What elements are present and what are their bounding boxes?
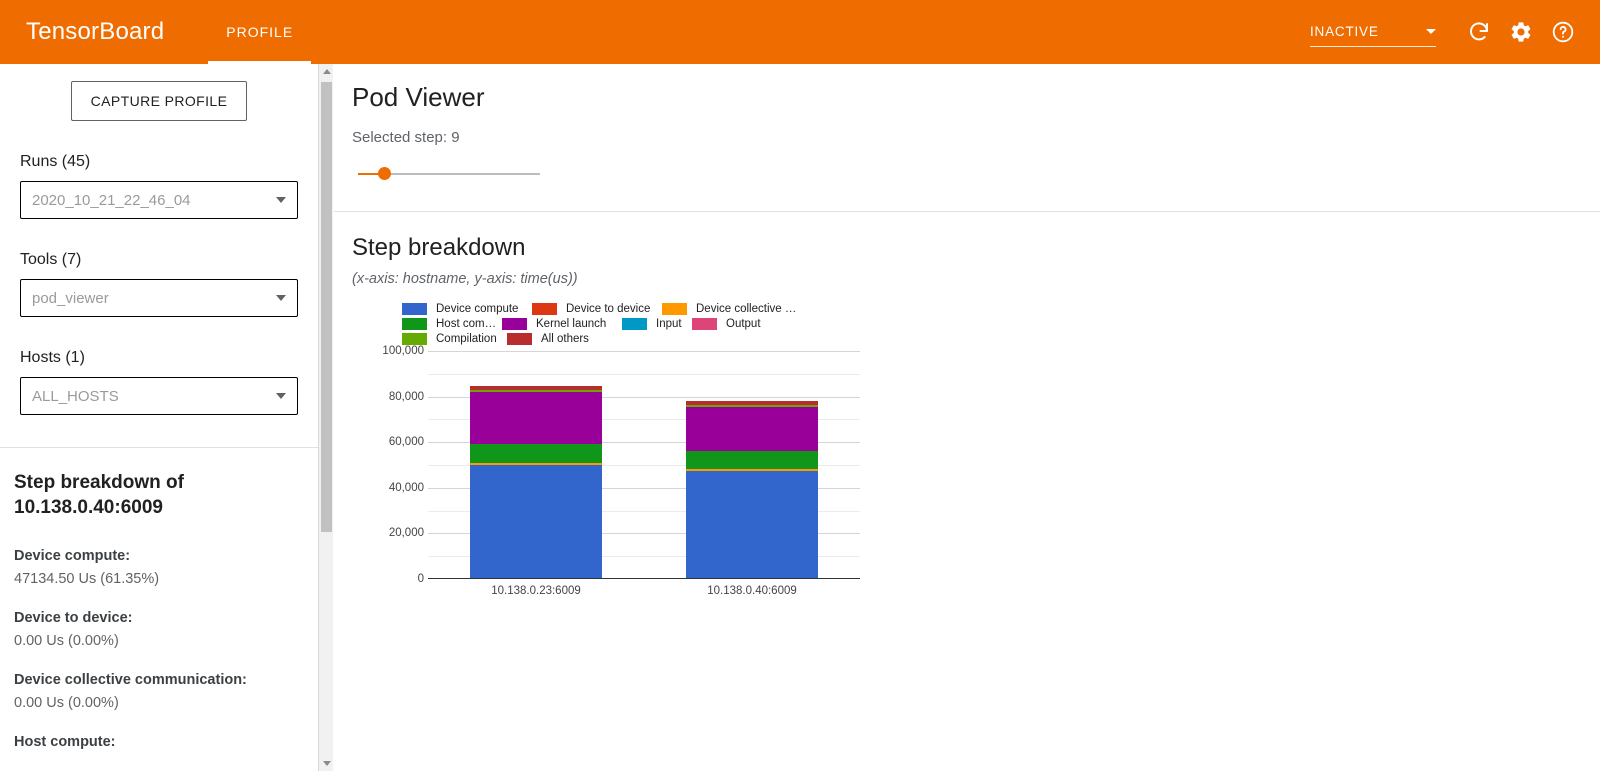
selected-step-label: Selected step: 9 bbox=[352, 129, 1600, 146]
gridline-major bbox=[428, 351, 860, 352]
bar-stack[interactable] bbox=[470, 386, 602, 578]
help-button[interactable] bbox=[1544, 13, 1582, 51]
help-icon bbox=[1551, 20, 1575, 44]
detail-value: 47134.50 Us (61.35%) bbox=[14, 569, 304, 590]
tab-profile[interactable]: PROFILE bbox=[208, 0, 311, 64]
detail-title: Step breakdown of 10.138.0.40:6009 bbox=[14, 470, 304, 520]
legend-swatch-icon bbox=[532, 303, 557, 315]
runs-field: Runs (45) 2020_10_21_22_46_04 bbox=[20, 153, 298, 219]
app-bar: TensorBoard PROFILE INACTIVE bbox=[0, 0, 1600, 64]
page-title: Pod Viewer bbox=[352, 82, 1600, 113]
legend-item[interactable]: Host compute bbox=[402, 318, 502, 330]
bar-segment[interactable] bbox=[686, 451, 818, 469]
legend-swatch-icon bbox=[622, 318, 647, 330]
chevron-down-icon bbox=[323, 761, 331, 766]
chevron-down-icon bbox=[276, 393, 286, 399]
legend-row: Host computeKernel launchInputOutput bbox=[402, 316, 842, 331]
legend-label: Input bbox=[656, 318, 682, 330]
legend-swatch-icon bbox=[662, 303, 687, 315]
app-bar-actions: INACTIVE bbox=[1310, 13, 1582, 51]
step-slider[interactable] bbox=[358, 165, 540, 183]
sidebar: CAPTURE PROFILE Runs (45) 2020_10_21_22_… bbox=[0, 64, 318, 771]
legend-item[interactable]: All others bbox=[507, 333, 612, 345]
detail-value: 0.00 Us (0.00%) bbox=[14, 631, 304, 652]
legend-item[interactable]: Output bbox=[692, 318, 782, 330]
runs-select[interactable]: 2020_10_21_22_46_04 bbox=[20, 181, 298, 219]
bar-segment[interactable] bbox=[686, 469, 818, 471]
y-axis-tick-label: 60,000 bbox=[354, 436, 424, 448]
reload-icon bbox=[1467, 20, 1491, 44]
legend-item[interactable]: Input bbox=[622, 318, 692, 330]
bar-segment[interactable] bbox=[470, 465, 602, 578]
chevron-down-icon bbox=[1426, 29, 1436, 34]
legend-item[interactable]: Device collective com… bbox=[662, 303, 802, 315]
run-status-value: INACTIVE bbox=[1310, 24, 1379, 39]
detail-row: Host compute: bbox=[14, 732, 304, 753]
run-status-select[interactable]: INACTIVE bbox=[1310, 17, 1436, 47]
detail-row: Device to device: 0.00 Us (0.00%) bbox=[14, 608, 304, 652]
legend-label: Host compute bbox=[436, 318, 502, 330]
step-breakdown-card: Step breakdown (x-axis: hostname, y-axis… bbox=[334, 212, 1600, 601]
chevron-down-icon bbox=[276, 295, 286, 301]
bar-segment[interactable] bbox=[686, 471, 818, 578]
detail-row: Device compute: 47134.50 Us (61.35%) bbox=[14, 546, 304, 590]
bar-segment[interactable] bbox=[686, 405, 818, 407]
legend-label: All others bbox=[541, 333, 589, 345]
legend-row: Device computeDevice to deviceDevice col… bbox=[402, 301, 842, 316]
detail-key: Device to device: bbox=[14, 608, 304, 629]
legend-item[interactable]: Compilation bbox=[402, 333, 507, 345]
legend-item[interactable]: Device to device bbox=[532, 303, 662, 315]
scroll-down-button[interactable] bbox=[319, 756, 334, 771]
gridline-minor bbox=[428, 374, 860, 375]
legend-swatch-icon bbox=[692, 318, 717, 330]
slider-thumb[interactable] bbox=[378, 167, 391, 180]
tools-select[interactable]: pod_viewer bbox=[20, 279, 298, 317]
reload-button[interactable] bbox=[1460, 13, 1498, 51]
y-axis-tick-label: 80,000 bbox=[354, 391, 424, 403]
bar-stack[interactable] bbox=[686, 401, 818, 578]
legend-swatch-icon bbox=[402, 318, 427, 330]
chart-legend: Device computeDevice to deviceDevice col… bbox=[402, 301, 842, 346]
legend-swatch-icon bbox=[402, 303, 427, 315]
detail-key: Device compute: bbox=[14, 546, 304, 567]
x-axis-line bbox=[428, 578, 860, 579]
legend-row: CompilationAll others bbox=[402, 331, 842, 346]
step-breakdown-detail: Step breakdown of 10.138.0.40:6009 Devic… bbox=[0, 448, 318, 753]
main-panel: Pod Viewer Selected step: 9 Step breakdo… bbox=[334, 64, 1600, 771]
sidebar-scrollbar[interactable] bbox=[318, 64, 333, 771]
bar-segment[interactable] bbox=[470, 392, 602, 444]
detail-value: 0.00 Us (0.00%) bbox=[14, 693, 304, 714]
bar-segment[interactable] bbox=[470, 444, 602, 463]
y-axis-tick-label: 20,000 bbox=[354, 527, 424, 539]
capture-profile-button[interactable]: CAPTURE PROFILE bbox=[71, 81, 248, 121]
legend-label: Output bbox=[726, 318, 761, 330]
nav-tabs: PROFILE bbox=[208, 0, 311, 64]
legend-label: Device collective com… bbox=[696, 303, 802, 315]
scroll-up-button[interactable] bbox=[319, 64, 334, 79]
legend-label: Kernel launch bbox=[536, 318, 606, 330]
step-breakdown-chart[interactable]: Device computeDevice to deviceDevice col… bbox=[370, 301, 870, 601]
detail-row: Device collective communication: 0.00 Us… bbox=[14, 670, 304, 714]
legend-label: Compilation bbox=[436, 333, 497, 345]
x-axis-tick-label: 10.138.0.40:6009 bbox=[707, 585, 797, 597]
card-subtitle: (x-axis: hostname, y-axis: time(us)) bbox=[352, 271, 1600, 287]
detail-key: Device collective communication: bbox=[14, 670, 304, 691]
capture-profile-row: CAPTURE PROFILE bbox=[0, 64, 318, 121]
chevron-down-icon bbox=[276, 197, 286, 203]
chart-plot-area: 020,00040,00060,00080,000100,00010.138.0… bbox=[428, 351, 860, 579]
bar-segment[interactable] bbox=[686, 401, 818, 405]
legend-swatch-icon bbox=[502, 318, 527, 330]
app-brand: TensorBoard bbox=[26, 18, 164, 46]
bar-segment[interactable] bbox=[470, 386, 602, 390]
body-area: CAPTURE PROFILE Runs (45) 2020_10_21_22_… bbox=[0, 64, 1600, 771]
runs-label: Runs (45) bbox=[20, 153, 298, 171]
tools-label: Tools (7) bbox=[20, 251, 298, 269]
legend-item[interactable]: Device compute bbox=[402, 303, 532, 315]
chevron-up-icon bbox=[323, 69, 331, 74]
legend-item[interactable]: Kernel launch bbox=[502, 318, 622, 330]
detail-key: Host compute: bbox=[14, 732, 304, 753]
legend-label: Device compute bbox=[436, 303, 518, 315]
x-axis-tick-label: 10.138.0.23:6009 bbox=[491, 585, 581, 597]
bar-segment[interactable] bbox=[470, 390, 602, 392]
card-title: Step breakdown bbox=[352, 234, 1600, 262]
tools-select-value: pod_viewer bbox=[32, 290, 276, 307]
hosts-select-value: ALL_HOSTS bbox=[32, 388, 276, 405]
legend-label: Device to device bbox=[566, 303, 650, 315]
y-axis-tick-label: 0 bbox=[354, 573, 424, 585]
legend-swatch-icon bbox=[507, 333, 532, 345]
y-axis-tick-label: 100,000 bbox=[354, 345, 424, 357]
hosts-select[interactable]: ALL_HOSTS bbox=[20, 377, 298, 415]
hosts-field: Hosts (1) ALL_HOSTS bbox=[20, 349, 298, 415]
tools-field: Tools (7) pod_viewer bbox=[20, 251, 298, 317]
hosts-label: Hosts (1) bbox=[20, 349, 298, 367]
y-axis-tick-label: 40,000 bbox=[354, 482, 424, 494]
bar-segment[interactable] bbox=[470, 463, 602, 465]
gear-icon bbox=[1509, 20, 1533, 44]
settings-button[interactable] bbox=[1502, 13, 1540, 51]
runs-select-value: 2020_10_21_22_46_04 bbox=[32, 192, 276, 209]
bar-segment[interactable] bbox=[686, 407, 818, 451]
legend-swatch-icon bbox=[402, 333, 427, 345]
scrollbar-thumb[interactable] bbox=[321, 82, 332, 532]
